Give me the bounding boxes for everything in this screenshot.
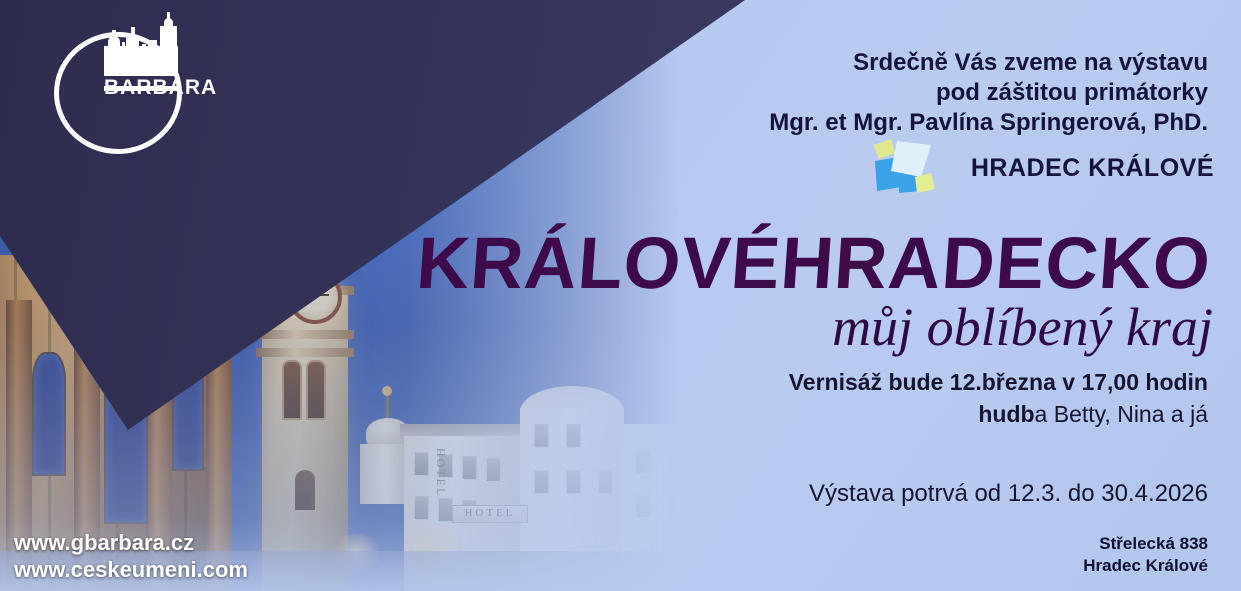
poster-subtitle: můj oblíbený kraj <box>832 296 1213 358</box>
invitation-text: Srdečně Vás zveme na výstavu pod záštito… <box>769 48 1208 138</box>
vernisage-info: Vernisáž bude 12.března v 17,00 hodin hu… <box>789 366 1208 430</box>
city-logo[interactable]: HRADEC KRÁLOVÉ <box>869 137 1214 199</box>
cathedral-silhouette-icon <box>104 24 192 76</box>
hk-emblem-svg <box>869 137 957 199</box>
gallery-address: Střelecká 838 Hradec Králové <box>1083 533 1208 577</box>
website-links[interactable]: www.gbarbara.cz www.ceskeumeni.com <box>14 529 248 583</box>
poster-canvas: HOTEL HOTEL BARBARA Srdečně Vás zveme <box>0 0 1241 591</box>
city-logo-text: HRADEC KRÁLOVÉ <box>971 154 1214 183</box>
address-street: Střelecká 838 <box>1083 533 1208 555</box>
vernisage-date-line: Vernisáž bude 12.března v 17,00 hodin <box>789 366 1208 398</box>
website-gbarbara[interactable]: www.gbarbara.cz <box>14 529 248 556</box>
vernisage-music-rest: a Betty, Nina a já <box>1035 401 1208 427</box>
invite-line-2: pod záštitou primátorky <box>769 78 1208 108</box>
invite-line-1: Srdečně Vás zveme na výstavu <box>769 48 1208 78</box>
hradec-kralove-emblem-icon <box>869 137 957 199</box>
invite-line-3: Mgr. et Mgr. Pavlína Springerová, PhD. <box>769 108 1208 138</box>
gallery-barbara-logo[interactable]: BARBARA <box>48 18 198 146</box>
exhibition-duration: Výstava potrvá od 12.3. do 30.4.2026 <box>809 480 1208 508</box>
website-ceskeumeni[interactable]: www.ceskeumeni.com <box>14 556 248 583</box>
logo-underline-bar <box>104 86 178 91</box>
vernisage-music-line: hudba Betty, Nina a já <box>789 398 1208 430</box>
vernisage-music-bold: hudb <box>978 401 1034 427</box>
poster-title: KRÁLOVÉHRADECKO <box>414 222 1214 305</box>
address-city: Hradec Králové <box>1083 555 1208 577</box>
